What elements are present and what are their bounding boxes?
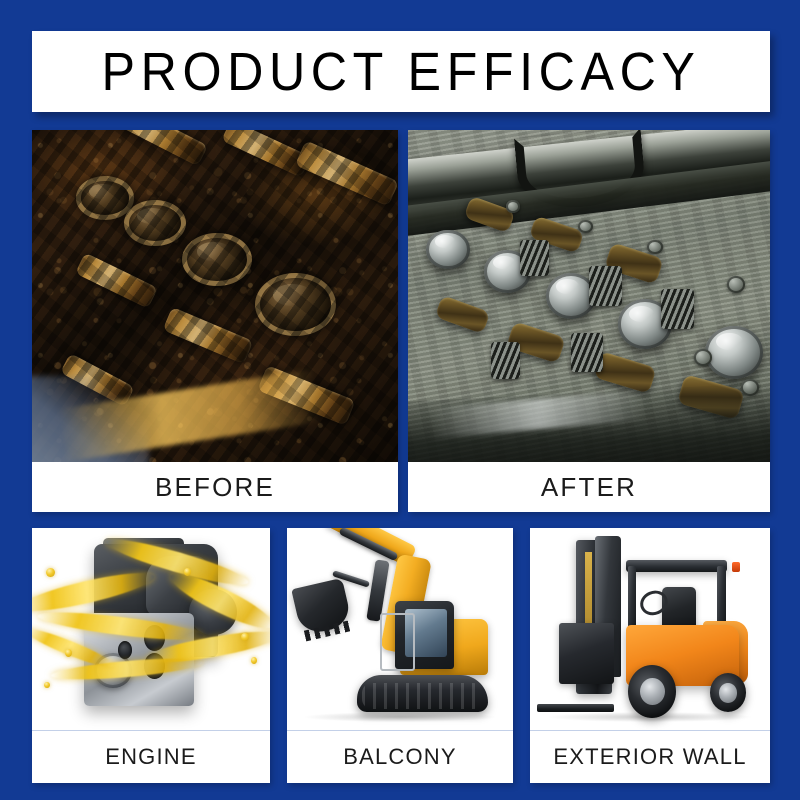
rear-wheel: [710, 673, 746, 711]
oil-droplet: [44, 682, 50, 689]
comparison-panel-before: BEFORE: [32, 130, 398, 512]
ground-shadow: [549, 712, 751, 722]
photo-excavator: [287, 528, 513, 730]
valve-spring: [520, 240, 549, 277]
application-panel-balcony: BALCONY: [287, 528, 513, 783]
photo-after-clean-engine: [408, 130, 770, 462]
valve-spring: [491, 342, 520, 379]
overhead-guard: [626, 560, 727, 572]
photo-before-dirty-engine: [32, 130, 398, 462]
head-bolt: [727, 276, 745, 293]
caption-balcony: BALCONY: [287, 730, 513, 783]
front-wheel: [628, 665, 676, 718]
page-title: PRODUCT EFFICACY: [102, 45, 701, 99]
fork-tine: [537, 704, 614, 712]
head-bolt: [506, 200, 520, 213]
comparison-panel-after: AFTER: [408, 130, 770, 512]
warning-light: [732, 562, 740, 572]
caption-after: AFTER: [408, 462, 770, 512]
caption-exterior-wall: EXTERIOR WALL: [530, 730, 770, 783]
caption-before: BEFORE: [32, 462, 398, 512]
oil-droplet: [46, 568, 54, 577]
photo-forklift: [530, 528, 770, 730]
valve-bucket: [705, 326, 763, 379]
valve-spring: [571, 333, 604, 373]
valve-spring: [661, 289, 694, 329]
excavator-track: [357, 675, 488, 711]
photo-engine-oil-splash: [32, 528, 270, 730]
title-bar: PRODUCT EFFICACY: [32, 31, 770, 112]
fork-carriage: [559, 623, 614, 684]
application-panel-engine: ENGINE: [32, 528, 270, 783]
head-bolt: [578, 220, 592, 233]
head-bolt: [694, 349, 712, 366]
engine-port: [118, 641, 132, 659]
ground-shadow: [305, 712, 495, 722]
product-efficacy-poster: PRODUCT EFFICACY: [0, 0, 800, 800]
application-panel-exterior-wall: EXTERIOR WALL: [530, 528, 770, 783]
cab-handrail: [380, 613, 416, 672]
caption-engine: ENGINE: [32, 730, 270, 783]
oil-droplet: [251, 657, 257, 663]
valve-spring: [589, 266, 622, 306]
oil-droplet: [241, 633, 248, 641]
valve-bucket: [426, 230, 469, 270]
oil-droplet: [184, 568, 191, 575]
excavator-bucket: [291, 577, 353, 636]
